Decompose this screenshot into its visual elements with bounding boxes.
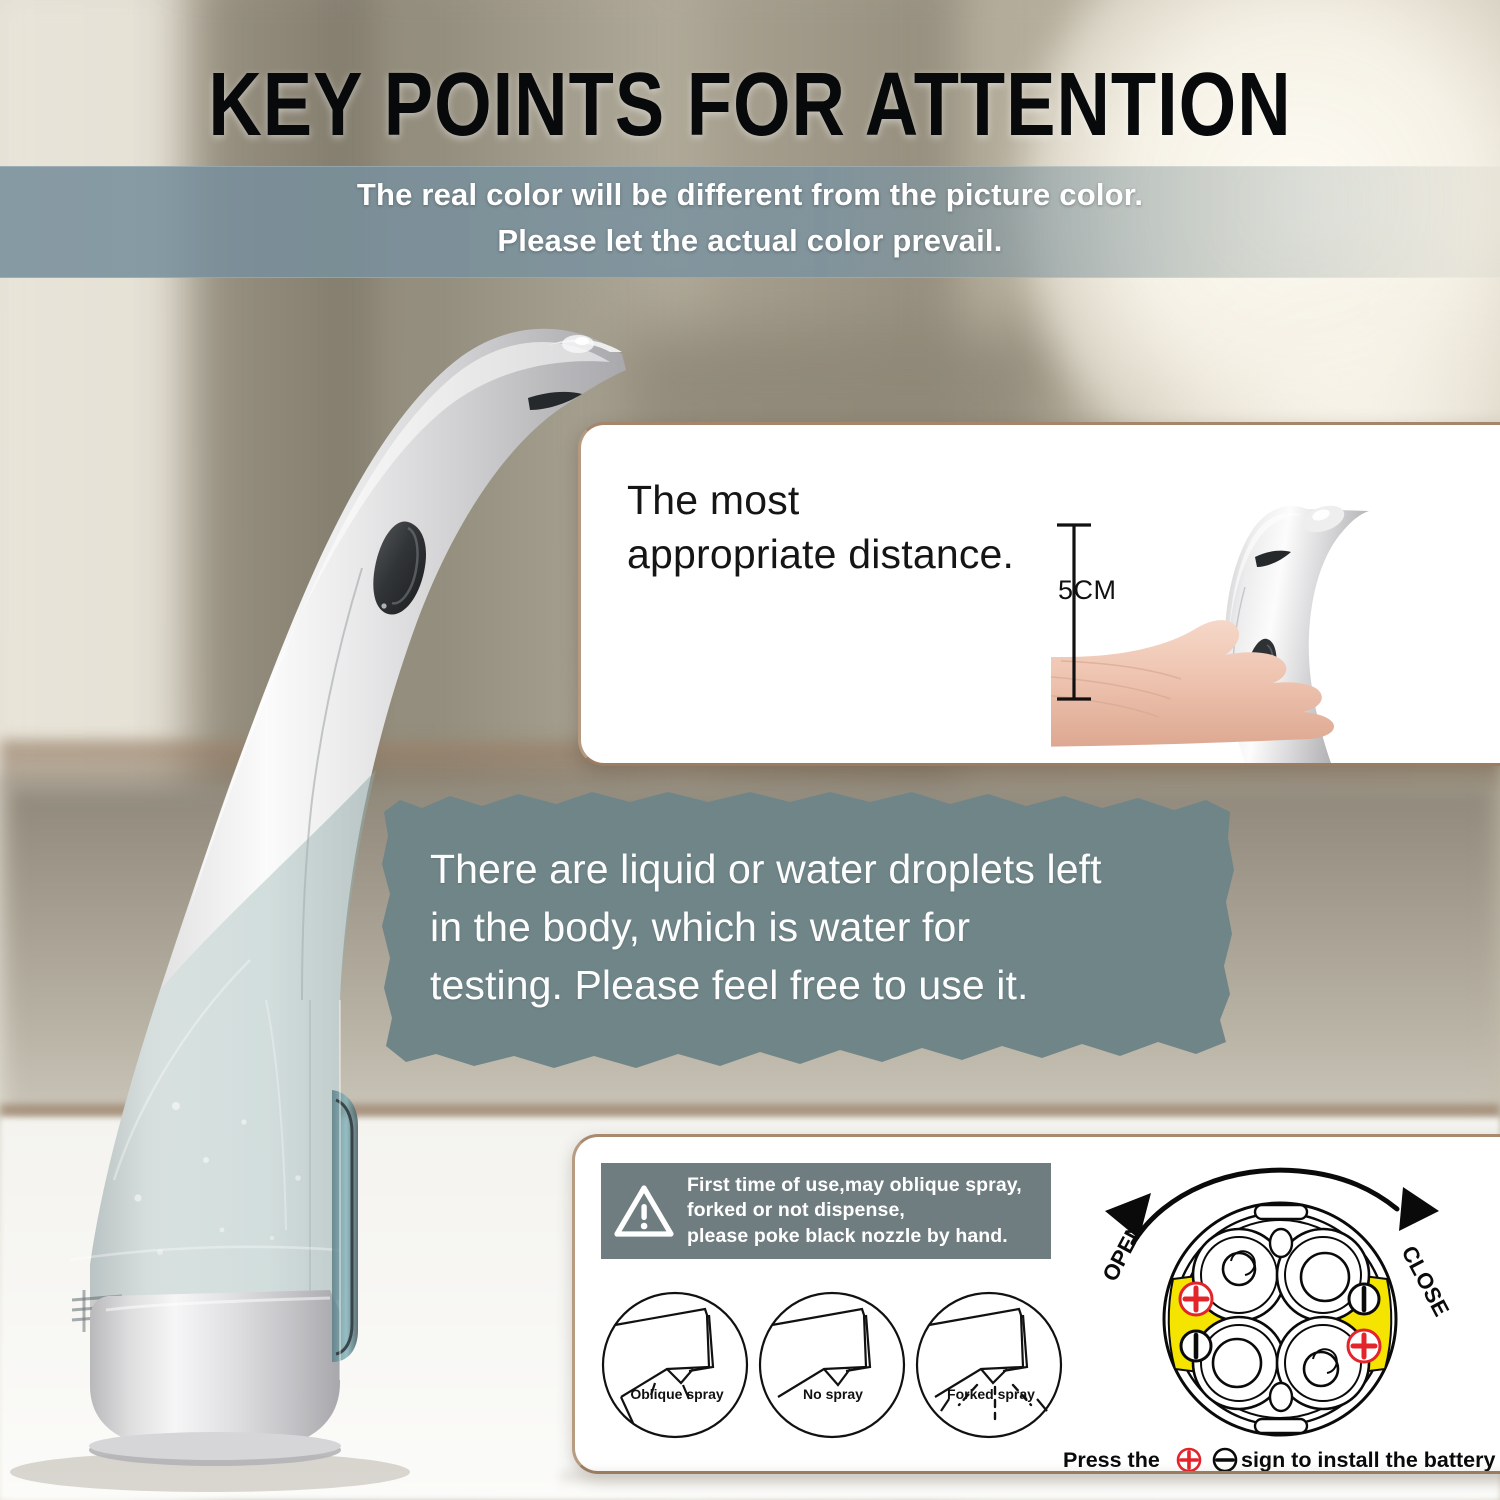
warning-box: First time of use,may oblique spray, for… (601, 1163, 1051, 1259)
spray-label-forked: Forked spray (947, 1386, 1035, 1402)
spray-label-oblique: Oblique spray (630, 1386, 724, 1402)
torn-banner-text: There are liquid or water droplets left … (430, 840, 1220, 1014)
subtitle-text: The real color will be different from th… (0, 172, 1500, 264)
distance-heading-line-1: The most (627, 473, 1014, 527)
spray-diagrams: Oblique spray No spray Forked spray (597, 1287, 1067, 1447)
close-label: CLOSE (1397, 1242, 1455, 1321)
polarity-plus-right (1348, 1330, 1380, 1362)
distance-heading: The most appropriate distance. (627, 473, 1014, 581)
polarity-minus-right (1349, 1284, 1379, 1314)
warning-triangle-icon (613, 1182, 675, 1240)
open-label: OPEN (1097, 1219, 1148, 1286)
battery-compartment-diagram: OPEN CLOSE (1055, 1147, 1500, 1474)
warning-text: First time of use,may oblique spray, for… (687, 1173, 1022, 1250)
torn-banner-line-3: testing. Please feel free to use it. (430, 956, 1220, 1014)
spray-label-no-spray: No spray (803, 1386, 863, 1402)
warning-line-1: First time of use,may oblique spray, (687, 1173, 1022, 1199)
polarity-plus-left (1180, 1283, 1212, 1315)
warning-line-2: forked or not dispense, (687, 1198, 1022, 1224)
distance-heading-line-2: appropriate distance. (627, 527, 1014, 581)
bottom-instruction-card: First time of use,may oblique spray, for… (572, 1134, 1500, 1474)
distance-illustration (1051, 503, 1491, 766)
measurement-label: 5CM (1058, 575, 1117, 606)
battery-caption-after: sign to install the battery (1241, 1448, 1495, 1472)
polarity-minus-left (1181, 1331, 1211, 1361)
torn-paper-banner: There are liquid or water droplets left … (378, 778, 1238, 1074)
page-title: KEY POINTS FOR ATTENTION (0, 52, 1500, 156)
torn-banner-line-2: in the body, which is water for (430, 898, 1220, 956)
warning-line-3: please poke black nozzle by hand. (687, 1224, 1022, 1250)
subtitle-line-2: Please let the actual color prevail. (0, 218, 1500, 264)
caption-minus-icon (1214, 1449, 1236, 1471)
appropriate-distance-card: The most appropriate distance. (578, 422, 1500, 766)
product-infographic: KEY POINTS FOR ATTENTION The real color … (0, 0, 1500, 1500)
torn-banner-line-1: There are liquid or water droplets left (430, 840, 1220, 898)
battery-caption-before: Press the (1063, 1448, 1160, 1472)
subtitle-line-1: The real color will be different from th… (0, 172, 1500, 218)
caption-plus-icon (1178, 1449, 1200, 1471)
card-drop-shadow (560, 1472, 1500, 1486)
